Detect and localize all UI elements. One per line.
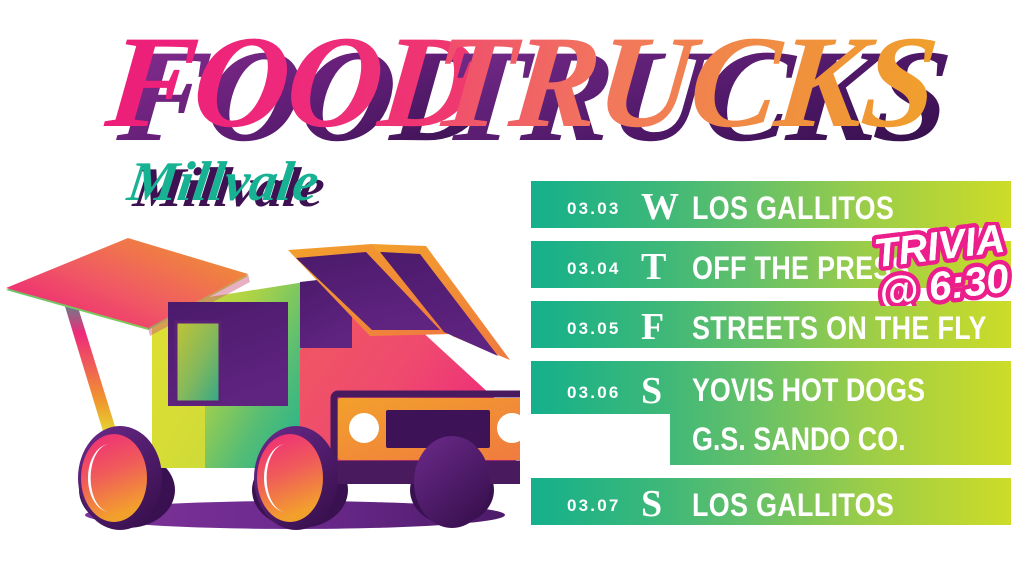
schedule-row-1[interactable]: 03.03 W LOS GALLITOS <box>531 181 1011 228</box>
row-date: 03.06 <box>567 383 621 403</box>
food-truck-illustration <box>0 238 520 538</box>
schedule-row-5[interactable]: 03.07 S LOS GALLITOS <box>531 478 1011 525</box>
truck-wheel-rear <box>78 426 162 530</box>
truck-headlight-left <box>349 413 379 443</box>
schedule-row-3[interactable]: 03.05 F STREETS ON THE FLY <box>531 301 1011 348</box>
schedule-bar: 03.07 S LOS GALLITOS <box>531 478 1011 525</box>
row-day-letter: T <box>641 248 666 286</box>
schedule-row-2[interactable]: 03.04 T OFF THE PRESS <box>531 241 1011 288</box>
row-date: 03.05 <box>567 319 621 339</box>
row-vendor-name-line2: G.S. SANDO CO. <box>692 421 906 458</box>
schedule-bar: 03.03 W LOS GALLITOS <box>531 181 1011 228</box>
row-day-letter: W <box>641 188 679 226</box>
row-date: 03.03 <box>567 199 621 219</box>
row-vendor-name: LOS GALLITOS <box>692 489 894 522</box>
row-vendor-name: LOS GALLITOS <box>692 192 894 225</box>
row-vendor-name: OFF THE PRESS <box>692 252 910 285</box>
svg-text:Millvale: Millvale <box>123 151 322 213</box>
truck-wheel-mid <box>254 426 338 530</box>
schedule-row-4[interactable]: 03.06 S YOVIS HOT DOGS G.S. SANDO CO. <box>531 361 1011 465</box>
schedule-bar: 03.04 T OFF THE PRESS <box>531 241 1011 288</box>
schedule-list: 03.03 W LOS GALLITOS 03.04 T OFF THE PRE… <box>531 181 1011 538</box>
poster-canvas: FOOD FOOD TRUCKS TRUCKS FOOD TRUCKS Mill… <box>0 0 1024 563</box>
row-day-letter: F <box>641 308 664 346</box>
row-date: 03.07 <box>567 496 621 516</box>
row-vendor-name-line1: YOVIS HOT DOGS <box>692 372 925 409</box>
svg-text:FOOD: FOOD <box>100 8 482 155</box>
row-day-letter: S <box>641 372 662 410</box>
poster-title: FOOD FOOD TRUCKS TRUCKS FOOD TRUCKS <box>0 0 960 160</box>
row-day-letter: S <box>641 485 662 523</box>
poster-subtitle: Millvale Millvale Millvale <box>120 142 420 222</box>
truck-wheel-front <box>414 436 490 528</box>
svg-text:TRUCKS: TRUCKS <box>426 8 943 155</box>
schedule-bar: 03.05 F STREETS ON THE FLY <box>531 301 1011 348</box>
row-vendor-name: STREETS ON THE FLY <box>692 312 987 345</box>
row-date: 03.04 <box>567 259 621 279</box>
